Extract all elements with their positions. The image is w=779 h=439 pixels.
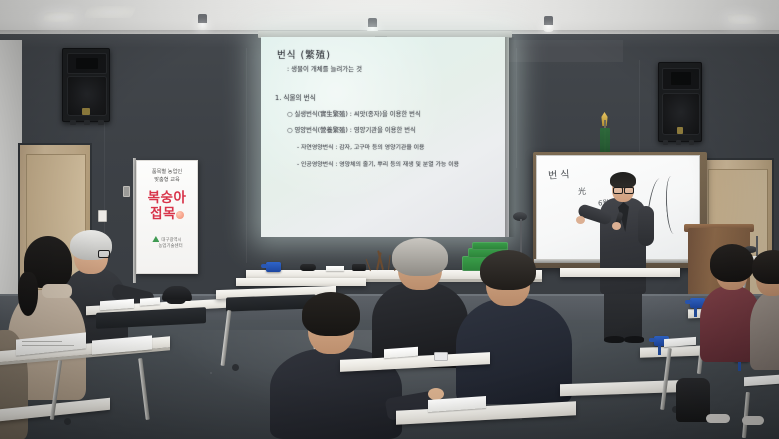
pa-speaker-left (62, 48, 110, 122)
paper-on-desk (140, 297, 160, 305)
tool-bag (300, 264, 316, 271)
attendee-hair (302, 292, 360, 336)
speaker-horn (662, 68, 699, 90)
banner-title-2: 접목 (137, 206, 197, 222)
peach-icon (176, 211, 184, 219)
glasses-icon (624, 187, 634, 194)
table-caster (232, 364, 239, 371)
instructor-legs (604, 288, 642, 340)
light-glow (708, 4, 778, 36)
ceiling-panel-reflection (83, 6, 136, 18)
instructor-hand (612, 222, 621, 230)
whiteboard-note-2: 光 (578, 186, 589, 198)
crate (472, 242, 508, 250)
clamp-stem (694, 308, 697, 317)
attendee-ponytail (18, 272, 38, 316)
spot-light (368, 18, 377, 31)
speaker-badge (82, 108, 89, 114)
attendee-hair (752, 250, 779, 284)
paper-line (22, 345, 74, 346)
table-caster (64, 418, 71, 425)
slide-bullet-2: ○ 영양번식(營養繁殖) : 영양기관을 이용한 번식 (287, 125, 416, 134)
screen-shadow (505, 37, 515, 237)
attendee-hair (480, 250, 536, 290)
light-switch[interactable] (98, 210, 107, 222)
slide-bullet-3: - 자연영양번식 : 감자, 고구마 등의 영양기관을 이용 (297, 142, 424, 151)
speaker-mount (70, 120, 76, 125)
speaker-horn (67, 53, 108, 74)
smartphone (434, 352, 448, 361)
pa-speaker-right (658, 62, 702, 142)
event-banner: 품목별 농업인 맞춤형 교육 복숭아 접목 대구광역시 농업기술센터 (136, 160, 198, 274)
wall-seam (246, 48, 247, 263)
demo-table-right (560, 268, 680, 277)
instructor-shoe (604, 336, 624, 343)
slide-bullet-1: ○ 실생번식(實生繁殖) : 씨앗(종자)을 이용한 번식 (287, 109, 421, 118)
spot-light (198, 14, 207, 27)
instructor-hair (610, 172, 636, 188)
floor-speck (520, 418, 522, 420)
speaker-mount (663, 140, 668, 145)
attendee-hair (392, 238, 448, 276)
clamp-stem (738, 362, 741, 371)
tool-pouch (352, 264, 366, 271)
whiteboard-note-1: 번식 (548, 165, 573, 182)
speaker-badge (677, 127, 684, 134)
classroom-photo: 번식 (繁殖) : 생물이 개체를 늘려가는 것 1. 식물의 번식 ○ 실생번… (0, 0, 779, 439)
glasses-icon (98, 250, 110, 258)
instructor-right-arm (638, 206, 654, 246)
banner-org-1-text: 대구광역시 (161, 238, 181, 243)
banner-org-2: 농업기술센터 (137, 244, 197, 250)
instructor-hand (576, 216, 585, 224)
floor-speck (210, 372, 212, 374)
projection-screen: 번식 (繁殖) : 생물이 개체를 늘려가는 것 1. 식물의 번식 ○ 실생번… (261, 37, 509, 237)
clamp-stem (658, 346, 661, 355)
banner-line-2: 맞춤형 교육 (137, 176, 197, 184)
cap-brim (166, 299, 186, 304)
slide-title: 번식 (繁殖) (277, 47, 331, 61)
instructor-shoe (624, 336, 644, 343)
speaker-mount (676, 140, 681, 145)
banner-title-2-text: 접목 (150, 206, 176, 222)
banner-org-1: 대구광역시 (137, 236, 197, 244)
speaker-mount (84, 120, 90, 125)
banner-line-1: 품목별 농업인 (137, 168, 197, 176)
speaker-mount (689, 140, 694, 145)
slide-heading: 1. 식물의 번식 (275, 92, 316, 102)
glasses-icon (613, 187, 623, 194)
wall-plate (123, 186, 130, 197)
backpack (676, 378, 710, 422)
wall-seam (516, 48, 517, 168)
spot-light (544, 16, 553, 29)
attendee-hair (710, 244, 754, 282)
table-row3 (236, 278, 366, 286)
city-logo-icon (152, 236, 159, 242)
slide-bullet-4: - 인공영양번식 : 영양체의 줄기, 뿌리 등의 재생 및 분열 가능 이용 (297, 159, 459, 168)
attendee-scarf (42, 284, 72, 298)
paper-line (22, 341, 62, 342)
attendee-body (456, 298, 572, 404)
banner-title-1: 복숭아 (137, 190, 197, 206)
grafting-clamp[interactable] (266, 262, 281, 272)
shoe (706, 414, 730, 423)
slide-subtitle: : 생물이 개체를 늘려가는 것 (287, 64, 362, 73)
shoe (742, 416, 764, 425)
speaker-mount (98, 120, 104, 125)
paper (326, 266, 344, 271)
